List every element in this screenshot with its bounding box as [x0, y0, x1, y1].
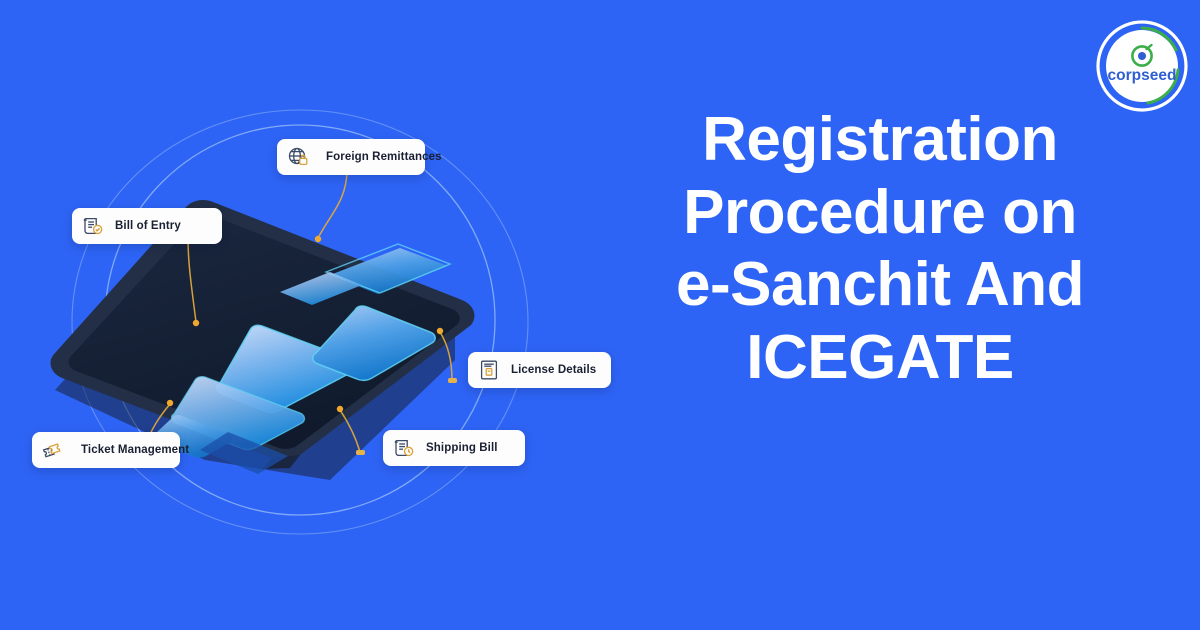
- label-chip-bill-of-entry[interactable]: Bill of Entry: [72, 208, 222, 244]
- title-line-4: ICEGATE: [620, 322, 1140, 395]
- corpseed-logo[interactable]: corpseed: [1094, 18, 1190, 114]
- title-line-1: Registration: [620, 104, 1140, 177]
- label-chip-text: Ticket Management: [81, 444, 189, 456]
- title-line-2: Procedure on: [620, 177, 1140, 250]
- page-title: Registration Procedure on e-Sanchit And …: [620, 104, 1140, 394]
- label-chip-shipping-bill[interactable]: Shipping Bill: [383, 430, 525, 466]
- label-chip-text: Foreign Remittances: [326, 151, 442, 163]
- document-check-icon: [81, 214, 105, 238]
- label-chip-foreign-remittances[interactable]: Foreign Remittances: [277, 139, 425, 175]
- title-line-3: e-Sanchit And: [620, 249, 1140, 322]
- label-chip-ticket-management[interactable]: Ticket Management: [32, 432, 180, 468]
- label-chip-text: License Details: [511, 364, 596, 376]
- certificate-icon: [477, 358, 501, 382]
- banner-canvas: Foreign Remittances Bill of Entry: [0, 0, 1200, 630]
- label-chip-text: Bill of Entry: [115, 220, 181, 232]
- label-chip-text: Shipping Bill: [426, 442, 498, 454]
- illustration-container: [0, 60, 620, 580]
- tickets-icon: [41, 438, 65, 462]
- label-chip-license-details[interactable]: License Details: [468, 352, 611, 388]
- globe-lock-icon: [286, 145, 310, 169]
- logo-wordmark: corpseed: [1108, 67, 1177, 84]
- document-clock-icon: [392, 436, 416, 460]
